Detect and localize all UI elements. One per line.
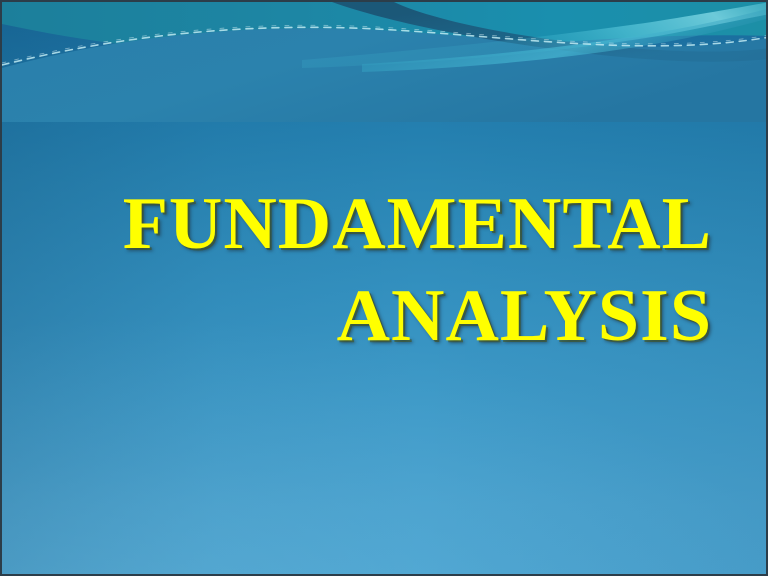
- slide-title: FUNDAMENTAL ANALYSIS: [62, 178, 714, 362]
- top-wave-decoration: [2, 2, 768, 122]
- title-line-1: FUNDAMENTAL: [62, 178, 714, 270]
- title-line-2: ANALYSIS: [62, 270, 714, 362]
- wave-svg: [2, 2, 768, 122]
- title-slide: FUNDAMENTAL ANALYSIS: [0, 0, 768, 576]
